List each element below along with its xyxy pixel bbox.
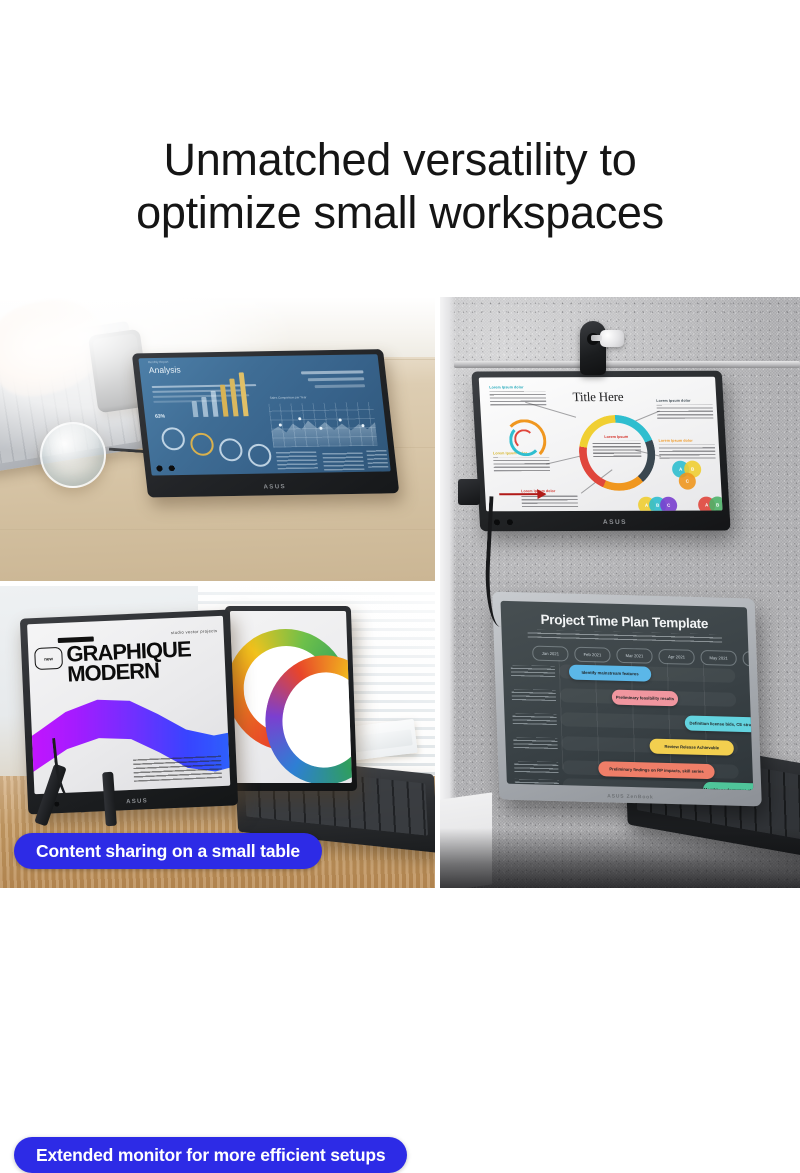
portable-monitor: Monthly Report Analysis 63%	[132, 349, 400, 497]
venn-circle: B	[709, 497, 723, 512]
photo-content-sharing-small-table: Monthly Report Analysis 63%	[0, 297, 435, 581]
slide-callout-label: Lorem Ipsum dolor	[656, 399, 691, 403]
donut-center-body	[592, 441, 641, 457]
caption-extended-monitor: Extended monitor for more efficient setu…	[14, 1137, 407, 1173]
monitor-screen: Monthly Report Analysis 63%	[138, 354, 390, 475]
laptop-display: Project Time Plan Template Jan 2021 Feb …	[492, 592, 762, 807]
partition-top-rail	[454, 361, 800, 368]
gallery-left-column: Monthly Report Analysis 63%	[0, 297, 435, 888]
gantt-bar: Preliminary feasibility results	[612, 690, 679, 707]
gantt-title: Project Time Plan Template	[540, 612, 708, 631]
poster-badge: new	[34, 647, 63, 670]
venn-diagram: A B	[698, 496, 723, 511]
feature-gallery: Monthly Report Analysis 63%	[0, 297, 800, 888]
venn-circle: C	[660, 497, 678, 512]
gantt-bar: Identify mainstream features	[569, 665, 652, 682]
gallery-right-column: Title Here Lorem Ipsum dolor Lorem Ipsum…	[440, 297, 800, 888]
asus-logo: ASUS	[263, 484, 286, 490]
rainbow-ribbon-graphic	[230, 611, 352, 783]
poster-title-line-2: MODERN	[67, 661, 160, 685]
wood-seam	[0, 529, 435, 530]
venn-circle: C	[678, 473, 696, 490]
slide-callout-label: Lorem Ipsum dolor	[658, 439, 693, 443]
poster-body-text	[133, 754, 222, 782]
monitor-screen	[230, 611, 352, 783]
usb-c-cable	[483, 496, 526, 628]
mount-hook	[580, 321, 606, 375]
monitor-bezel-bottom: ASUS	[148, 471, 402, 497]
mount-clip	[458, 479, 480, 505]
red-arrow	[499, 493, 545, 496]
monitor-screen: Title Here Lorem Ipsum dolor Lorem Ipsum…	[479, 377, 723, 512]
gantt-bar: Definition license bids, CE strategic ta…	[685, 715, 754, 732]
gantt-month-header: Jan 2021	[532, 646, 569, 662]
donut-center-text: Lorem Ipsum	[592, 435, 641, 457]
slide-title: Title Here	[572, 389, 624, 405]
dashboard-metric: 63%	[155, 414, 166, 420]
gantt-bar: Review Release Achievable	[649, 739, 734, 756]
mount-knob	[600, 330, 624, 347]
dashboard-title: Analysis	[148, 365, 181, 375]
venn-diagram: A B C	[672, 461, 718, 495]
venn-diagram: A B C	[638, 497, 695, 512]
laptop-brand-logo: ASUS ZenBook	[607, 793, 654, 800]
gantt-subtitle	[528, 629, 723, 642]
gantt-bar: Preliminary findings on RP impacts, skil…	[598, 761, 715, 779]
monitor-ports	[152, 463, 179, 473]
portable-monitor-secondary	[225, 606, 358, 791]
headline-line-1: Unmatched versatility to	[0, 133, 800, 186]
caption-content-sharing: Content sharing on a small table	[14, 833, 322, 869]
spiral-chart	[503, 419, 545, 459]
dashboard-kicker: Monthly Report	[148, 360, 169, 364]
poster-kicker: studio vector projects	[171, 628, 218, 635]
asus-logo: ASUS	[126, 798, 148, 805]
photo-partition-mounted: Title Here Lorem Ipsum dolor Lorem Ipsum…	[440, 297, 800, 888]
donut-center-label: Lorem Ipsum	[592, 435, 640, 439]
asus-logo: ASUS	[603, 519, 627, 526]
slide-callout-label: Lorem Ipsum dolor	[489, 385, 524, 389]
page-headline: Unmatched versatility to optimize small …	[0, 133, 800, 239]
laptop-screen: Project Time Plan Template Jan 2021 Feb …	[500, 601, 753, 790]
headline-line-2: optimize small workspaces	[0, 186, 800, 239]
gantt-bar: Monthly performance planning guidance	[703, 782, 753, 790]
floor-shadow	[440, 828, 800, 888]
